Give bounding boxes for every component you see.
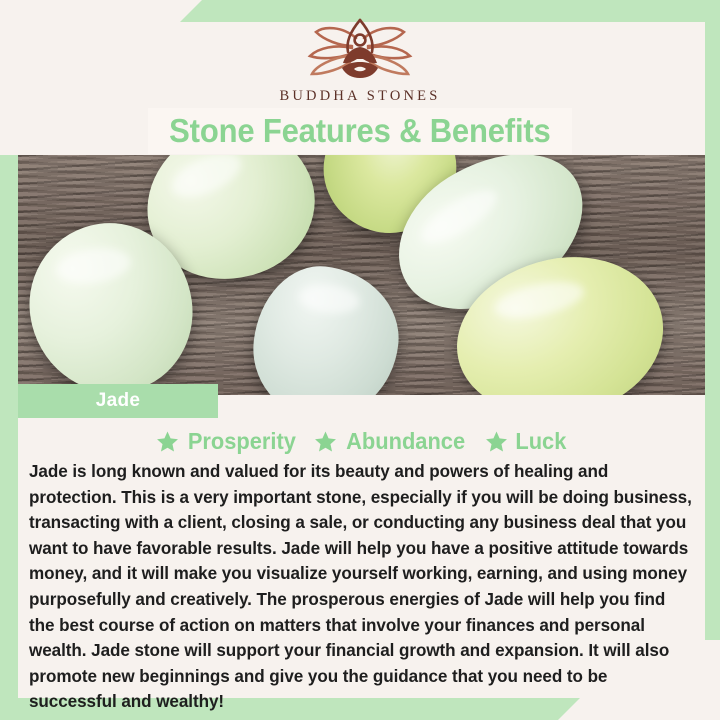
frame-accent-left [0, 155, 18, 720]
stone-info-card: BUDDHA STONES Stone Features & Benefits … [0, 0, 720, 720]
benefit-label: Abundance [347, 428, 466, 455]
benefit-item: Luck [485, 428, 568, 455]
benefits-list: Prosperity Abundance Luck [26, 428, 697, 455]
benefit-label: Luck [515, 428, 566, 455]
benefit-label: Prosperity [188, 428, 296, 455]
title-banner: Stone Features & Benefits [148, 108, 572, 154]
description-panel: Prosperity Abundance Luck Jade is long k… [18, 418, 705, 698]
page-title: Stone Features & Benefits [169, 112, 550, 150]
stone-description: Jade is long known and valued for its be… [26, 459, 697, 715]
stone-name: Jade [96, 390, 141, 412]
brand-name: BUDDHA STONES [0, 88, 720, 105]
star-icon [156, 430, 179, 453]
star-icon [485, 430, 508, 453]
stone-photo [18, 155, 705, 395]
lotus-meditation-icon [0, 14, 720, 86]
brand-logo: BUDDHA STONES [0, 14, 720, 105]
stone-name-bar: Jade [18, 384, 218, 418]
benefit-item: Abundance [314, 428, 468, 455]
star-icon [314, 430, 337, 453]
benefit-item: Prosperity [156, 428, 299, 455]
